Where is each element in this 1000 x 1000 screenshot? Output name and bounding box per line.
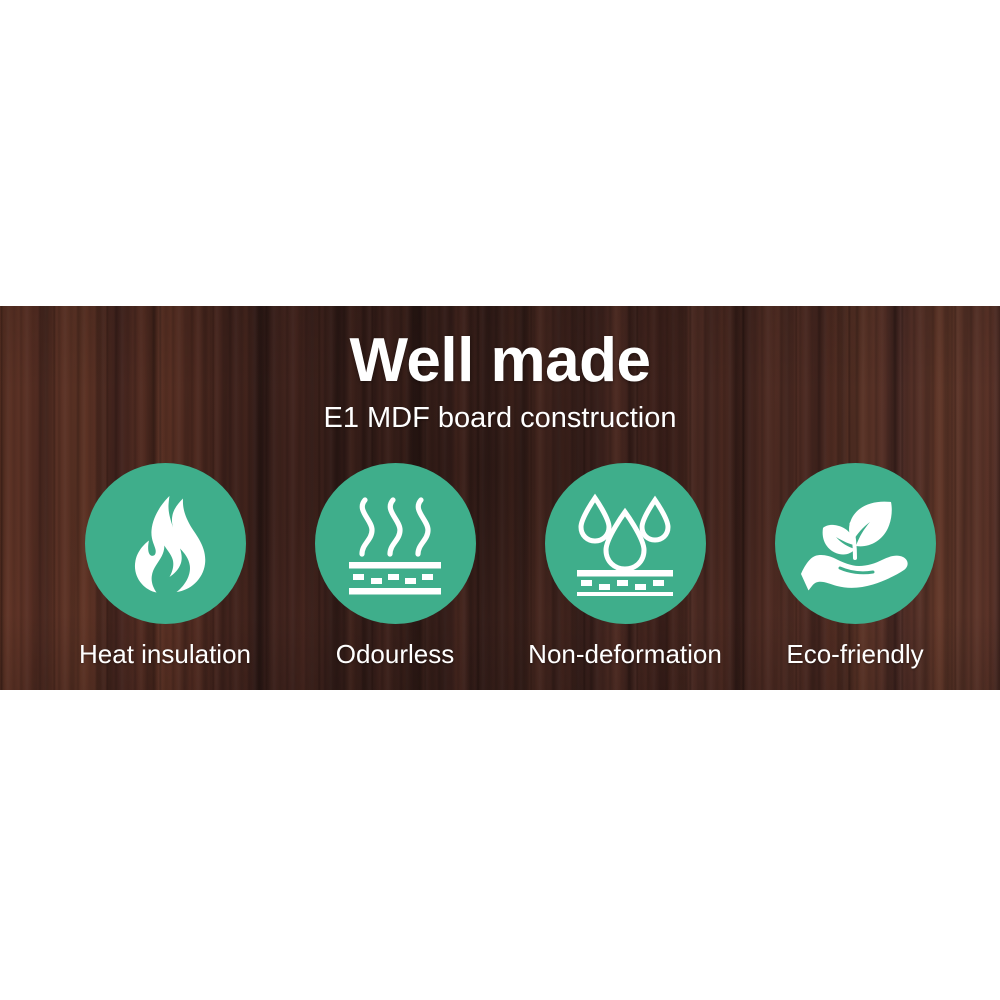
banner-title: Well made	[0, 330, 1000, 392]
feature-badge-eco-friendly	[775, 463, 936, 624]
water-droplets-over-board-icon	[573, 492, 677, 596]
hand-holding-plant-icon	[799, 496, 911, 592]
feature-badge-odourless	[315, 463, 476, 624]
odour-waves-over-board-icon	[343, 492, 447, 596]
banner-subtitle: E1 MDF board construction	[0, 404, 1000, 433]
feature-item-heat-insulation: Heat insulation	[60, 463, 270, 669]
feature-label-eco-friendly: Eco-friendly	[786, 640, 923, 669]
page-root: Well made E1 MDF board construction Heat…	[0, 0, 1000, 1000]
feature-item-non-deformation: Non-deformation	[520, 463, 730, 669]
feature-label-odourless: Odourless	[336, 640, 455, 669]
feature-badge-heat-insulation	[85, 463, 246, 624]
feature-badge-non-deformation	[545, 463, 706, 624]
feature-item-odourless: Odourless	[290, 463, 500, 669]
feature-label-heat-insulation: Heat insulation	[79, 640, 251, 669]
feature-list: Heat insulation	[60, 463, 960, 669]
flame-icon	[122, 494, 208, 594]
banner-content: Well made E1 MDF board construction Heat…	[0, 0, 1000, 1000]
feature-label-non-deformation: Non-deformation	[528, 640, 722, 669]
feature-item-eco-friendly: Eco-friendly	[750, 463, 960, 669]
